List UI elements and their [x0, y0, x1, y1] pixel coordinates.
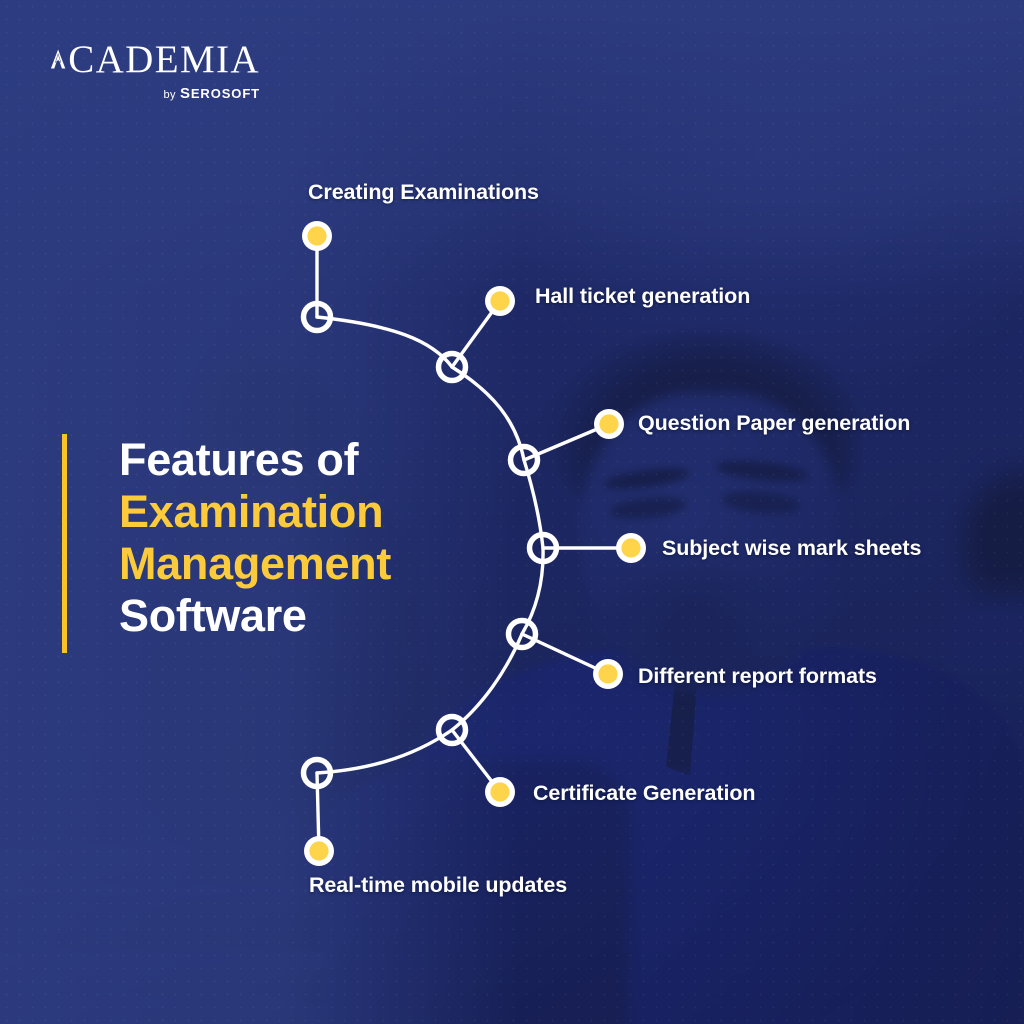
feature-label-hall-ticket-generation[interactable]: Hall ticket generation [535, 284, 750, 309]
spine-segment-5 [452, 634, 522, 730]
spine-segment-2 [452, 367, 524, 460]
feature-node-network [0, 0, 1024, 1024]
spine-nodes [304, 304, 557, 787]
feature-label-question-paper-generation[interactable]: Question Paper generation [638, 411, 910, 436]
spine-segment-1 [317, 317, 452, 367]
dot-certificate-generation[interactable] [490, 782, 509, 801]
feature-label-real-time-mobile-updates[interactable]: Real-time mobile updates [309, 873, 567, 898]
dot-real-time-mobile-updates[interactable] [309, 841, 328, 860]
feature-label-subject-wise-mark-sheets[interactable]: Subject wise mark sheets [662, 536, 921, 561]
dot-subject-wise-mark-sheets[interactable] [621, 538, 640, 557]
network-connector-lines [317, 236, 631, 851]
spine-segment-6 [317, 730, 452, 773]
infographic-poster: CADEMIA by SEROSOFT Features of Examinat… [0, 0, 1024, 1024]
feature-label-creating-examinations[interactable]: Creating Examinations [308, 180, 539, 205]
dot-creating-examinations[interactable] [307, 226, 326, 245]
feature-label-different-report-formats[interactable]: Different report formats [638, 664, 877, 689]
dot-different-report-formats[interactable] [598, 664, 617, 683]
dot-question-paper-generation[interactable] [599, 414, 618, 433]
feature-label-certificate-generation[interactable]: Certificate Generation [533, 781, 755, 806]
dot-hall-ticket-generation[interactable] [490, 291, 509, 310]
